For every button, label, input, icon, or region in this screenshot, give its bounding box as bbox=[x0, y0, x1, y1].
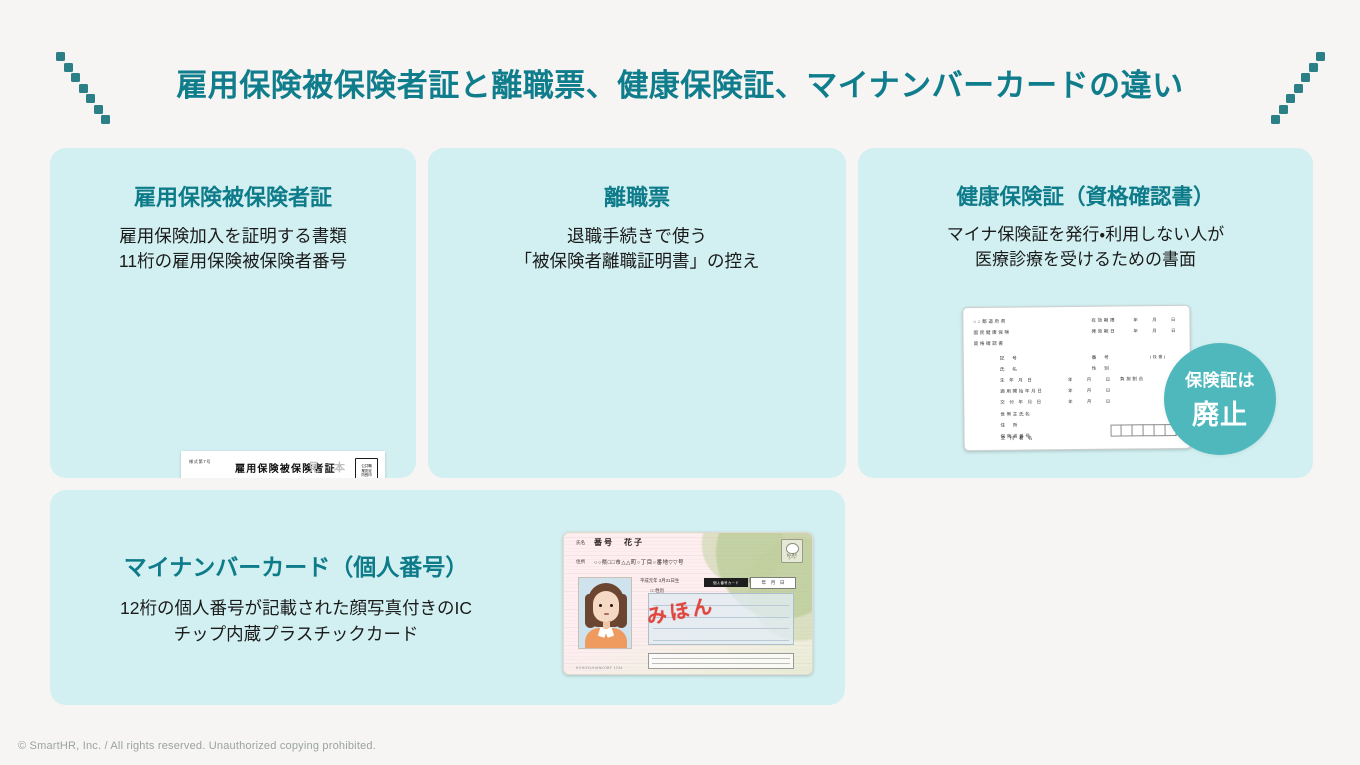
mynum-date-slot: 年 月 日 bbox=[750, 577, 796, 589]
kenko-field-6: 住 所 bbox=[1000, 423, 1019, 429]
kenko-right-2-date: 年 月 日 bbox=[1133, 328, 1180, 334]
card-heading: マイナンバーカード（個人番号） bbox=[50, 548, 542, 582]
kenko-note: (枝番) bbox=[1150, 354, 1167, 360]
kenko-field-0: 記 号 bbox=[1000, 356, 1019, 362]
doc-office-stamp: 公共職業安定所長印 bbox=[355, 458, 378, 478]
card-separation-notice: 離職票 退職手続きで使う 「被保険者離職証明書」の控え 雇用保険被保険者離職証明… bbox=[428, 148, 846, 478]
card-employment-insurance-certificate: 雇用保険被保険者証 雇用保険加入を証明する書類 11桁の雇用保険被保険者番号 様… bbox=[50, 148, 416, 478]
kenko-header-3: 資格確認書 bbox=[974, 341, 1005, 347]
mynum-black-band: 個人番号カード bbox=[704, 578, 748, 587]
health-insurance-certificate-image: ○○都道府県 国民健康保険 資格確認書 有効期限 年 月 日 発効期日 年 月 … bbox=[962, 305, 1191, 451]
kenko-field-2: 生 年 月 日 bbox=[1000, 377, 1033, 383]
mynum-label-address: 住所 bbox=[576, 559, 585, 565]
card-description-line-1: 雇用保険加入を証明する書類 bbox=[50, 224, 416, 249]
page-title: 雇用保険被保険者証と離職票、健康保険証、マイナンバーカードの違い bbox=[176, 60, 1183, 105]
kenko-field-4: 交 付 年 月 日 bbox=[1000, 399, 1043, 405]
mynum-footnote-block bbox=[648, 653, 794, 669]
doc-watermark: 見 本 bbox=[308, 459, 351, 475]
kenko-field-3: 適用開始年月日 bbox=[1000, 388, 1043, 394]
kenko-right-1: 有効期限 bbox=[1091, 318, 1116, 324]
card-description-line-2: チップ内蔵プラスチックカード bbox=[50, 622, 542, 647]
slide-canvas: 雇用保険被保険者証と離職票、健康保険証、マイナンバーカードの違い 雇用保険被保険… bbox=[0, 0, 1360, 765]
kenko-field-1: 氏 名 bbox=[1000, 367, 1019, 373]
my-number-card-image: 氏名 番号 花子 住所 ○○県□□市△△町○丁目○番地▽▽号 平成元年 3月31… bbox=[563, 532, 813, 675]
kenko-right-1-date: 年 月 日 bbox=[1133, 317, 1180, 323]
mynum-portrait-photo bbox=[578, 577, 632, 649]
card-description-line-1: 12桁の個人番号が記載された顔写真付きのIC bbox=[50, 596, 542, 621]
mynum-value-name: 番号 花子 bbox=[594, 537, 644, 548]
card-description-line-2: 医療診療を受けるための書面 bbox=[858, 248, 1313, 273]
kenko-field-5: 世帯主氏名 bbox=[1000, 411, 1031, 417]
title-bar: 雇用保険被保険者証と離職票、健康保険証、マイナンバーカードの違い bbox=[0, 46, 1360, 118]
kenko-field-4-date: 年 月 日 bbox=[1068, 399, 1115, 405]
card-description-line-1: マイナ保険証を発行・利用しない人が bbox=[858, 223, 1313, 248]
card-description: 12桁の個人番号が記載された顔写真付きのIC チップ内蔵プラスチックカード bbox=[50, 596, 542, 647]
mynum-birth-text: 平成元年 3月31日生 bbox=[640, 578, 679, 584]
mynum-label-name: 氏名 bbox=[576, 540, 585, 546]
kenko-right-2: 発効期日 bbox=[1091, 329, 1116, 335]
card-description-line-2: 11桁の雇用保険被保険者番号 bbox=[50, 249, 416, 274]
card-description: 退職手続きで使う 「被保険者離職証明書」の控え bbox=[428, 224, 846, 275]
kenko-rfield-2: 負担割合 bbox=[1120, 376, 1145, 382]
kenko-rfield-0: 番 号 bbox=[1092, 355, 1111, 361]
card-description-line-2: 「被保険者離職証明書」の控え bbox=[428, 249, 846, 274]
card-heading: 雇用保険被保険者証 bbox=[50, 180, 416, 212]
employment-insurance-certificate-image: 様式第7号 雇用保険被保険者証 見 本 センター 公共職業安定所長 公共職業安定… bbox=[181, 451, 385, 478]
status-badge-insurance-abolished: 保険証は 廃止 bbox=[1164, 343, 1276, 455]
card-description: 雇用保険加入を証明する書類 11桁の雇用保険被保険者番号 bbox=[50, 224, 416, 275]
card-description-line-1: 退職手続きで使う bbox=[428, 224, 846, 249]
kenko-number-boxes bbox=[1110, 424, 1176, 437]
kenko-rfield-1: 性 別 bbox=[1092, 366, 1111, 372]
kenko-header-2: 国民健康保険 bbox=[973, 330, 1010, 336]
mynum-value-address: ○○県□□市△△町○丁目○番地▽▽号 bbox=[594, 558, 684, 566]
doc-form-no: 様式第7号 bbox=[189, 459, 211, 465]
badge-line-2: 廃止 bbox=[1192, 393, 1248, 432]
kenko-field-8: 交 付 者 名 bbox=[1001, 435, 1034, 441]
kenko-field-3-date: 年 月 日 bbox=[1068, 388, 1115, 394]
card-heading: 健康保険証（資格確認書） bbox=[858, 180, 1313, 211]
kenko-field-2-date: 年 月 日 bbox=[1068, 377, 1115, 383]
mynum-ic-chip-icon: 個人番号カード bbox=[781, 539, 803, 563]
kenko-header-1: ○○都道府県 bbox=[973, 319, 1007, 325]
badge-line-1: 保険証は bbox=[1185, 366, 1255, 391]
card-description: マイナ保険証を発行・利用しない人が 医療診療を受けるための書面 bbox=[858, 223, 1313, 272]
card-heading: 離職票 bbox=[428, 180, 846, 212]
mynum-serial-number: KOHOKUHANKOBF 1234 bbox=[576, 666, 623, 670]
my-number-text-block: マイナンバーカード（個人番号） 12桁の個人番号が記載された顔写真付きのIC チ… bbox=[50, 548, 542, 647]
copyright-footer: © SmartHR, Inc. / All rights reserved. U… bbox=[18, 740, 376, 752]
